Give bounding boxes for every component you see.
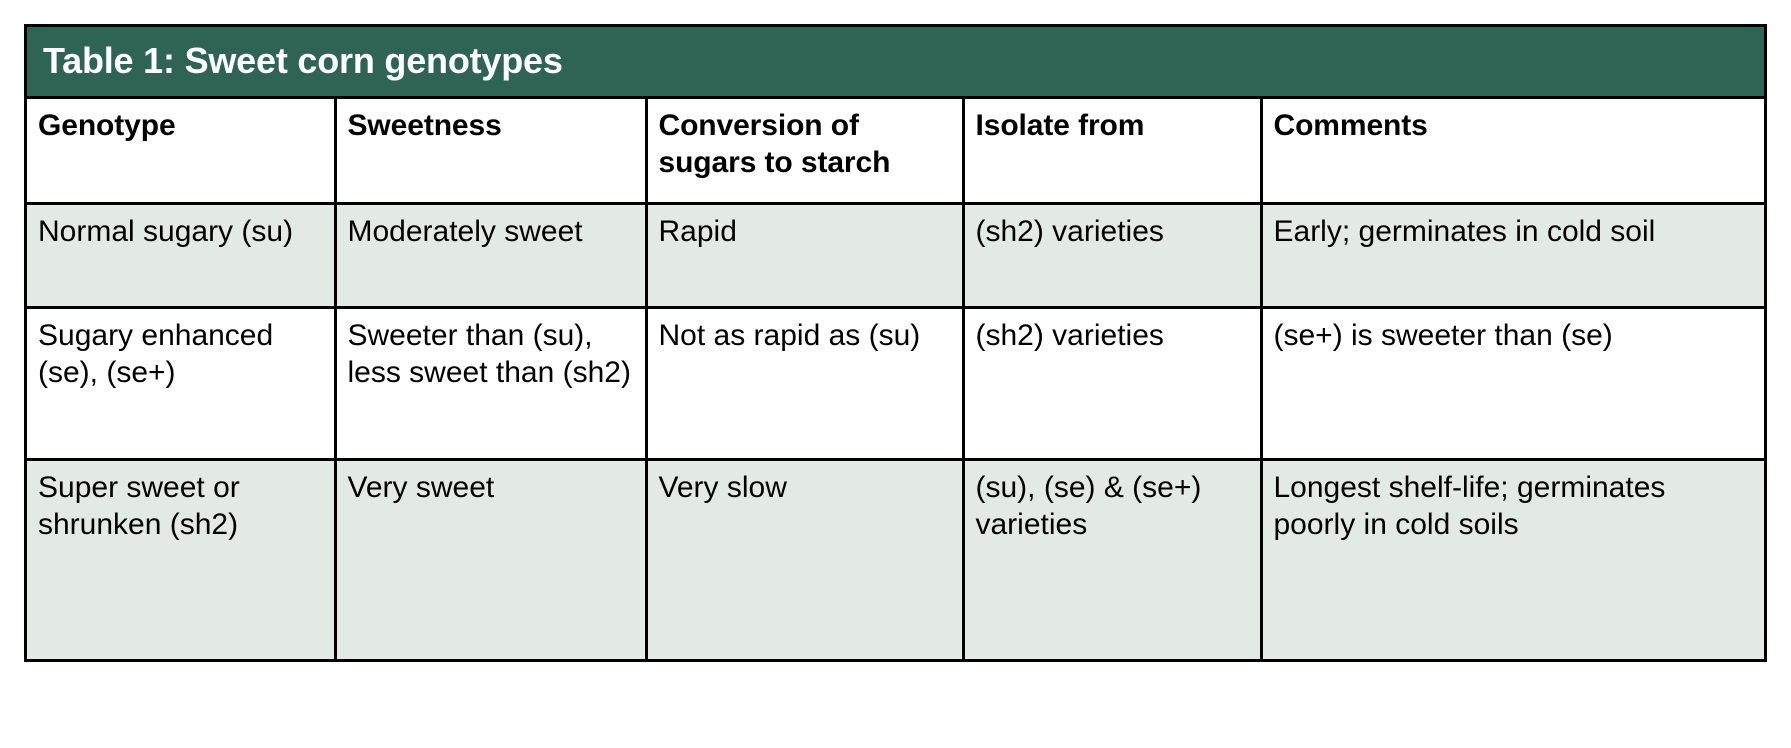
cell-conversion: Very slow	[646, 459, 963, 659]
table-header: Genotype Sweetness Conversion of sugars …	[27, 99, 1764, 203]
column-header-comments: Comments	[1261, 99, 1764, 203]
table-row: Super sweet or shrunken (sh2) Very sweet…	[27, 459, 1764, 659]
cell-genotype: Super sweet or shrunken (sh2)	[27, 459, 335, 659]
column-header-genotype: Genotype	[27, 99, 335, 203]
sweet-corn-genotypes-table: Table 1: Sweet corn genotypes Genotype S…	[24, 24, 1767, 662]
cell-comments: Early; germinates in cold soil	[1261, 203, 1764, 307]
table-row: Sugary enhanced (se), (se+) Sweeter than…	[27, 307, 1764, 459]
cell-sweetness: Moderately sweet	[335, 203, 646, 307]
cell-comments: Longest shelf-life; germinates poorly in…	[1261, 459, 1764, 659]
column-header-sweetness: Sweetness	[335, 99, 646, 203]
header-row: Genotype Sweetness Conversion of sugars …	[27, 99, 1764, 203]
genotype-data-table: Genotype Sweetness Conversion of sugars …	[27, 99, 1764, 659]
cell-isolate-from: (su), (se) & (se+) varieties	[963, 459, 1261, 659]
cell-comments: (se+) is sweeter than (se)	[1261, 307, 1764, 459]
column-header-conversion: Conversion of sugars to starch	[646, 99, 963, 203]
cell-sweetness: Sweeter than (su), less sweet than (sh2)	[335, 307, 646, 459]
cell-isolate-from: (sh2) varieties	[963, 307, 1261, 459]
cell-isolate-from: (sh2) varieties	[963, 203, 1261, 307]
cell-genotype: Normal sugary (su)	[27, 203, 335, 307]
table-title: Table 1: Sweet corn genotypes	[27, 27, 1764, 99]
column-header-isolate-from: Isolate from	[963, 99, 1261, 203]
table-row: Normal sugary (su) Moderately sweet Rapi…	[27, 203, 1764, 307]
cell-conversion: Not as rapid as (su)	[646, 307, 963, 459]
cell-genotype: Sugary enhanced (se), (se+)	[27, 307, 335, 459]
cell-conversion: Rapid	[646, 203, 963, 307]
table-body: Normal sugary (su) Moderately sweet Rapi…	[27, 203, 1764, 659]
cell-sweetness: Very sweet	[335, 459, 646, 659]
